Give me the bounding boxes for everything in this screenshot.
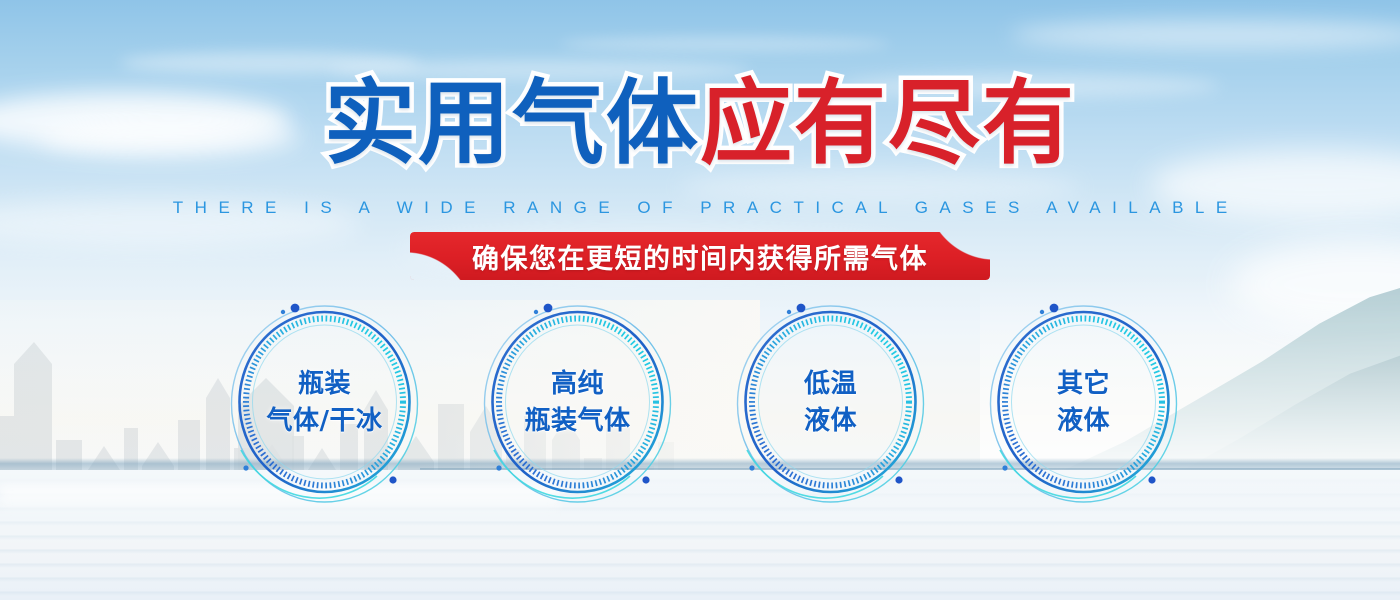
category-label-line2: 液体: [804, 403, 857, 440]
category-label: 其它 液体: [1057, 366, 1110, 440]
tagline-text: 确保您在更短的时间内获得所需气体: [472, 237, 928, 276]
category-label-line2: 气体/干冰: [267, 403, 383, 440]
tagline-ribbon: 确保您在更短的时间内获得所需气体: [410, 232, 990, 280]
category-badge-cryogenic-liquid[interactable]: 低温 液体: [733, 300, 928, 505]
headline-red-text: 应有尽有: [700, 70, 1076, 177]
page-title: 实用气体应有尽有: [0, 78, 1400, 170]
cloud-shape: [1010, 20, 1400, 50]
category-badge-high-purity-bottled-gas[interactable]: 高纯 瓶装气体: [480, 300, 675, 505]
category-label-line1: 瓶装: [298, 369, 351, 399]
gas-products-hero-banner: 实用气体应有尽有 THERE IS A WIDE RANGE OF PRACTI…: [0, 0, 1400, 600]
headline-blue-text: 实用气体: [324, 70, 700, 177]
subtitle-english: THERE IS A WIDE RANGE OF PRACTICAL GASES…: [0, 198, 1400, 218]
category-badge-bottled-gas-dry-ice[interactable]: 瓶装 气体/干冰: [227, 300, 422, 505]
category-label-line1: 低温: [804, 369, 857, 399]
product-category-list: 瓶装 气体/干冰 高纯 瓶装气体: [0, 300, 1400, 515]
category-label: 瓶装 气体/干冰: [267, 366, 383, 440]
category-label-line2: 液体: [1057, 403, 1110, 440]
ribbon-container: 确保您在更短的时间内获得所需气体: [0, 232, 1400, 280]
category-badge-other-liquid[interactable]: 其它 液体: [986, 300, 1181, 505]
cloud-shape: [560, 36, 890, 52]
category-label-line1: 高纯: [551, 369, 604, 399]
category-label-line1: 其它: [1057, 369, 1110, 399]
category-label-line2: 瓶装气体: [524, 403, 630, 440]
category-label: 低温 液体: [804, 366, 857, 440]
category-label: 高纯 瓶装气体: [524, 366, 630, 440]
